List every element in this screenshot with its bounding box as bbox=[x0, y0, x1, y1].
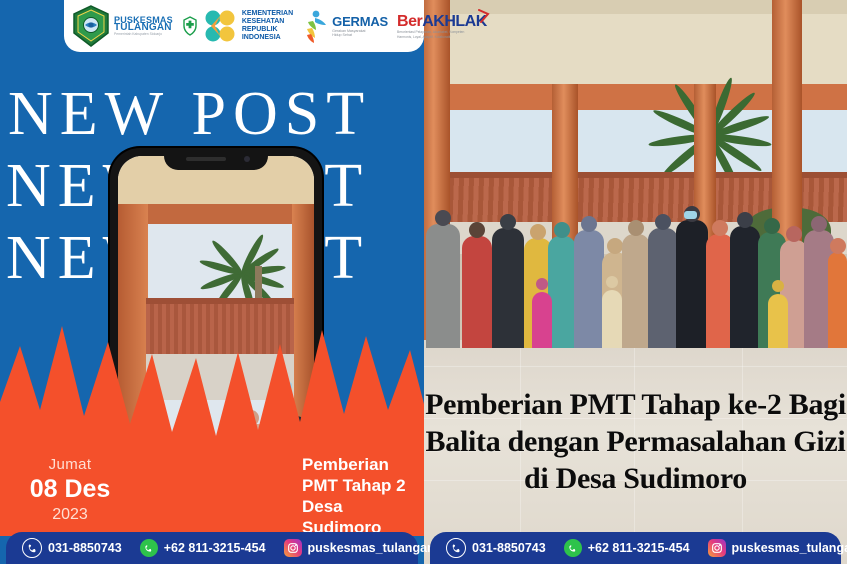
puskesmas-tulangan-logo: PUSKESMAS TULANGAN Pemerintah Kabupaten … bbox=[72, 5, 173, 47]
poster-canvas: NEW POST NEW POST NEW POST bbox=[0, 0, 847, 564]
logo-line-2: KESEHATAN bbox=[242, 18, 293, 26]
logo-line-3: Harmonis, Loyal, Adaptif, Kolaboratif bbox=[397, 35, 487, 39]
right-photo-people-group bbox=[424, 222, 847, 348]
footer-phone-label: 031-8850743 bbox=[472, 541, 546, 555]
date-block: Jumat 08 Des 2023 bbox=[22, 456, 118, 524]
left-panel: NEW POST NEW POST NEW POST bbox=[0, 0, 424, 564]
phone-icon bbox=[22, 538, 42, 558]
phone-icon bbox=[446, 538, 466, 558]
logo-line-2: TULANGAN bbox=[114, 24, 173, 32]
berakhlak-swoosh-icon bbox=[478, 9, 490, 23]
berakhlak-wordmark: BerAKHLAK Berorientasi Pelayanan, Akunta… bbox=[397, 13, 487, 38]
footer-whatsapp-label: +62 811-3215-454 bbox=[164, 541, 266, 555]
date-year: 2023 bbox=[22, 506, 118, 524]
footer-contact-bar-left: 031-8850743 +62 811-3215-454 puskesmas_t… bbox=[6, 532, 418, 564]
date-day-month: 08 Des bbox=[22, 474, 118, 504]
footer-whatsapp-label: +62 811-3215-454 bbox=[588, 541, 690, 555]
right-headline-line: Pemberian PMT Tahap ke-2 Bagi bbox=[424, 386, 847, 423]
whatsapp-icon bbox=[564, 539, 582, 557]
kemenkes-logo: KEMENTERIAN KESEHATAN REPUBLIK INDONESIA bbox=[182, 8, 293, 44]
right-headline-line: Balita dengan Permasalahan Gizi bbox=[424, 423, 847, 460]
phone-earpiece bbox=[186, 157, 226, 161]
footer-whatsapp[interactable]: +62 811-3215-454 bbox=[564, 539, 690, 557]
logo-line-3: Hidup Sehat bbox=[332, 33, 388, 37]
footer-phone-label: 031-8850743 bbox=[48, 541, 122, 555]
phone-front-camera bbox=[244, 156, 250, 162]
germas-logo: GERMAS Gerakan Masyarakat Hidup Sehat bbox=[302, 9, 388, 43]
whatsapp-icon bbox=[140, 539, 158, 557]
germas-flower-icon bbox=[202, 8, 238, 44]
left-caption: Pemberian PMT Tahap 2 Desa Sudimoro bbox=[302, 454, 414, 538]
footer-whatsapp[interactable]: +62 811-3215-454 bbox=[140, 539, 266, 557]
date-day-name: Jumat bbox=[22, 456, 118, 473]
new-post-row: NEW POST bbox=[0, 78, 424, 150]
logo-line-1: KEMENTERIAN bbox=[242, 10, 293, 18]
instagram-icon bbox=[708, 539, 726, 557]
medical-cross-icon bbox=[182, 16, 198, 36]
kemenkes-wordmark: KEMENTERIAN KESEHATAN REPUBLIK INDONESIA bbox=[242, 10, 293, 42]
puskesmas-tulangan-wordmark: PUSKESMAS TULANGAN Pemerintah Kabupaten … bbox=[114, 16, 173, 36]
logo-line-1: GERMAS bbox=[332, 15, 388, 29]
logo-line-3: REPUBLIK bbox=[242, 26, 293, 34]
footer-phone[interactable]: 031-8850743 bbox=[22, 538, 122, 558]
footer-instagram-label: puskesmas_tulangan_sidoarjo bbox=[732, 541, 847, 555]
footer-contact-bar-right: 031-8850743 +62 811-3215-454 puskesmas_t… bbox=[430, 532, 841, 564]
right-headline-line: di Desa Sudimoro bbox=[424, 460, 847, 497]
logo-line-4: INDONESIA bbox=[242, 34, 293, 42]
sidoarjo-crest-icon bbox=[72, 5, 110, 47]
footer-instagram[interactable]: puskesmas_tulangan_sidoarjo bbox=[708, 539, 847, 557]
germas-wordmark: GERMAS Gerakan Masyarakat Hidup Sehat bbox=[332, 15, 388, 38]
instagram-icon bbox=[284, 539, 302, 557]
germas-figure-icon bbox=[302, 9, 328, 43]
berakhlak-logo: BerAKHLAK Berorientasi Pelayanan, Akunta… bbox=[397, 13, 487, 38]
right-headline: Pemberian PMT Tahap ke-2 Bagi Balita den… bbox=[424, 386, 847, 497]
header-logo-strip: PUSKESMAS TULANGAN Pemerintah Kabupaten … bbox=[64, 0, 424, 52]
phone-notch bbox=[164, 148, 268, 170]
right-panel: Pemberian PMT Tahap ke-2 Bagi Balita den… bbox=[424, 0, 847, 564]
footer-phone[interactable]: 031-8850743 bbox=[446, 538, 546, 558]
logo-line-1: BerAKHLAK bbox=[397, 13, 487, 30]
